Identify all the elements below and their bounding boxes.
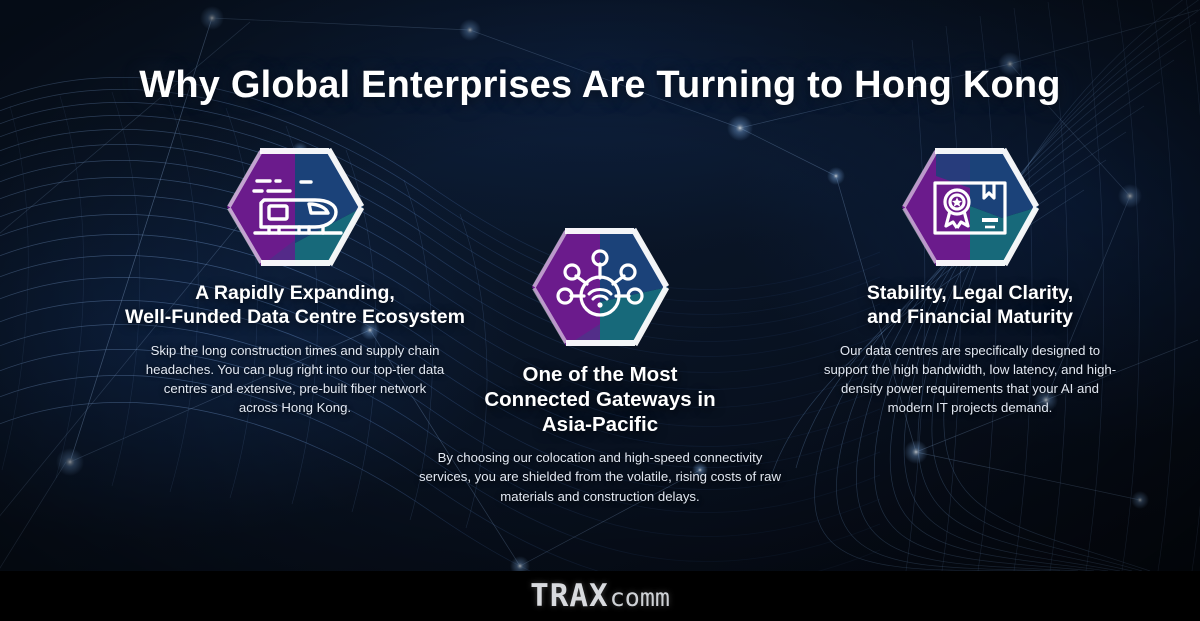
feature-heading-3-line-2: and Financial Maturity	[867, 306, 1073, 328]
hex-icon-wrap-2	[400, 228, 800, 346]
logo-mark-comm: comm	[610, 585, 670, 610]
feature-heading-3: Stability, Legal Clarity, and Financial …	[770, 282, 1170, 330]
traxcomm-logo: TRAX comm	[530, 581, 670, 612]
infographic-canvas: Why Global Enterprises Are Turning to Ho…	[0, 0, 1200, 621]
feature-heading-2-line-2: Connected Gateways in	[484, 388, 715, 411]
feature-column-2: One of the Most Connected Gateways in As…	[400, 228, 800, 506]
footer-bar: TRAX comm	[0, 571, 1200, 621]
feature-body-2: By choosing our colocation and high-spee…	[400, 448, 800, 506]
high-speed-train-icon	[227, 148, 363, 266]
network-hub-wifi-icon	[532, 228, 668, 346]
hex-icon-wrap-3	[770, 148, 1170, 266]
logo-mark-trax: TRAX	[530, 581, 609, 612]
feature-heading-2: One of the Most Connected Gateways in As…	[400, 362, 800, 437]
certificate-award-document-icon	[902, 148, 1038, 266]
feature-body-3: Our data centres are specifically design…	[770, 341, 1170, 418]
page-title: Why Global Enterprises Are Turning to Ho…	[0, 64, 1200, 107]
feature-heading-3-line-1: Stability, Legal Clarity,	[867, 282, 1073, 304]
feature-column-3: Stability, Legal Clarity, and Financial …	[770, 148, 1170, 418]
feature-heading-2-line-1: One of the Most	[523, 363, 678, 386]
feature-heading-2-line-3: Asia-Pacific	[542, 413, 658, 436]
feature-heading-1-line-1: A Rapidly Expanding,	[195, 282, 395, 304]
